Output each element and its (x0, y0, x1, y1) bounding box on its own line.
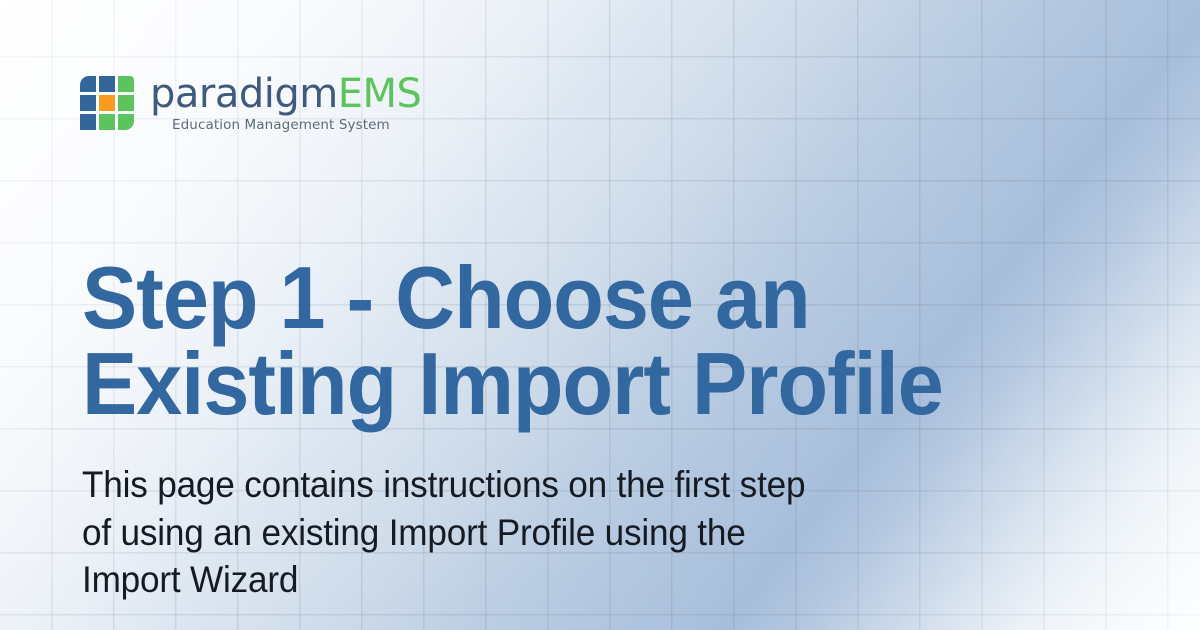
logo-cell-1-0 (80, 95, 96, 111)
brand-tagline: Education Management System (172, 119, 421, 133)
brand-logo: paradigmEMS Education Management System (80, 74, 421, 136)
page-title-line-2: Existing Import Profile (82, 341, 1031, 427)
logo-cell-0-0 (80, 76, 96, 92)
logo-cell-0-1 (99, 76, 115, 92)
wordmark-ems: EMS (338, 71, 422, 117)
logo-cell-1-1 (99, 95, 115, 111)
banner-cover: paradigmEMS Education Management System … (0, 0, 1200, 630)
banner-content: paradigmEMS Education Management System … (0, 0, 1200, 630)
page-description-line-1: This page contains instructions on the f… (82, 461, 937, 509)
brand-wordmark: paradigmEMS (150, 74, 421, 114)
page-description-line-2: of using an existing Import Profile usin… (82, 509, 937, 557)
brand-logo-text: paradigmEMS Education Management System (150, 74, 421, 133)
page-title-line-1: Step 1 - Choose an (82, 255, 1031, 341)
logo-cell-2-1 (99, 114, 115, 130)
paradigm-grid-logo-icon (80, 76, 136, 136)
wordmark-paradigm: paradigm (150, 71, 338, 117)
logo-cell-2-2 (118, 114, 134, 130)
logo-cell-1-2 (118, 95, 134, 111)
page-description: This page contains instructions on the f… (82, 461, 937, 604)
page-title: Step 1 - Choose an Existing Import Profi… (82, 255, 1031, 427)
logo-cell-0-2 (118, 76, 134, 92)
page-description-line-3: Import Wizard (82, 556, 937, 604)
logo-cell-2-0 (80, 114, 96, 130)
